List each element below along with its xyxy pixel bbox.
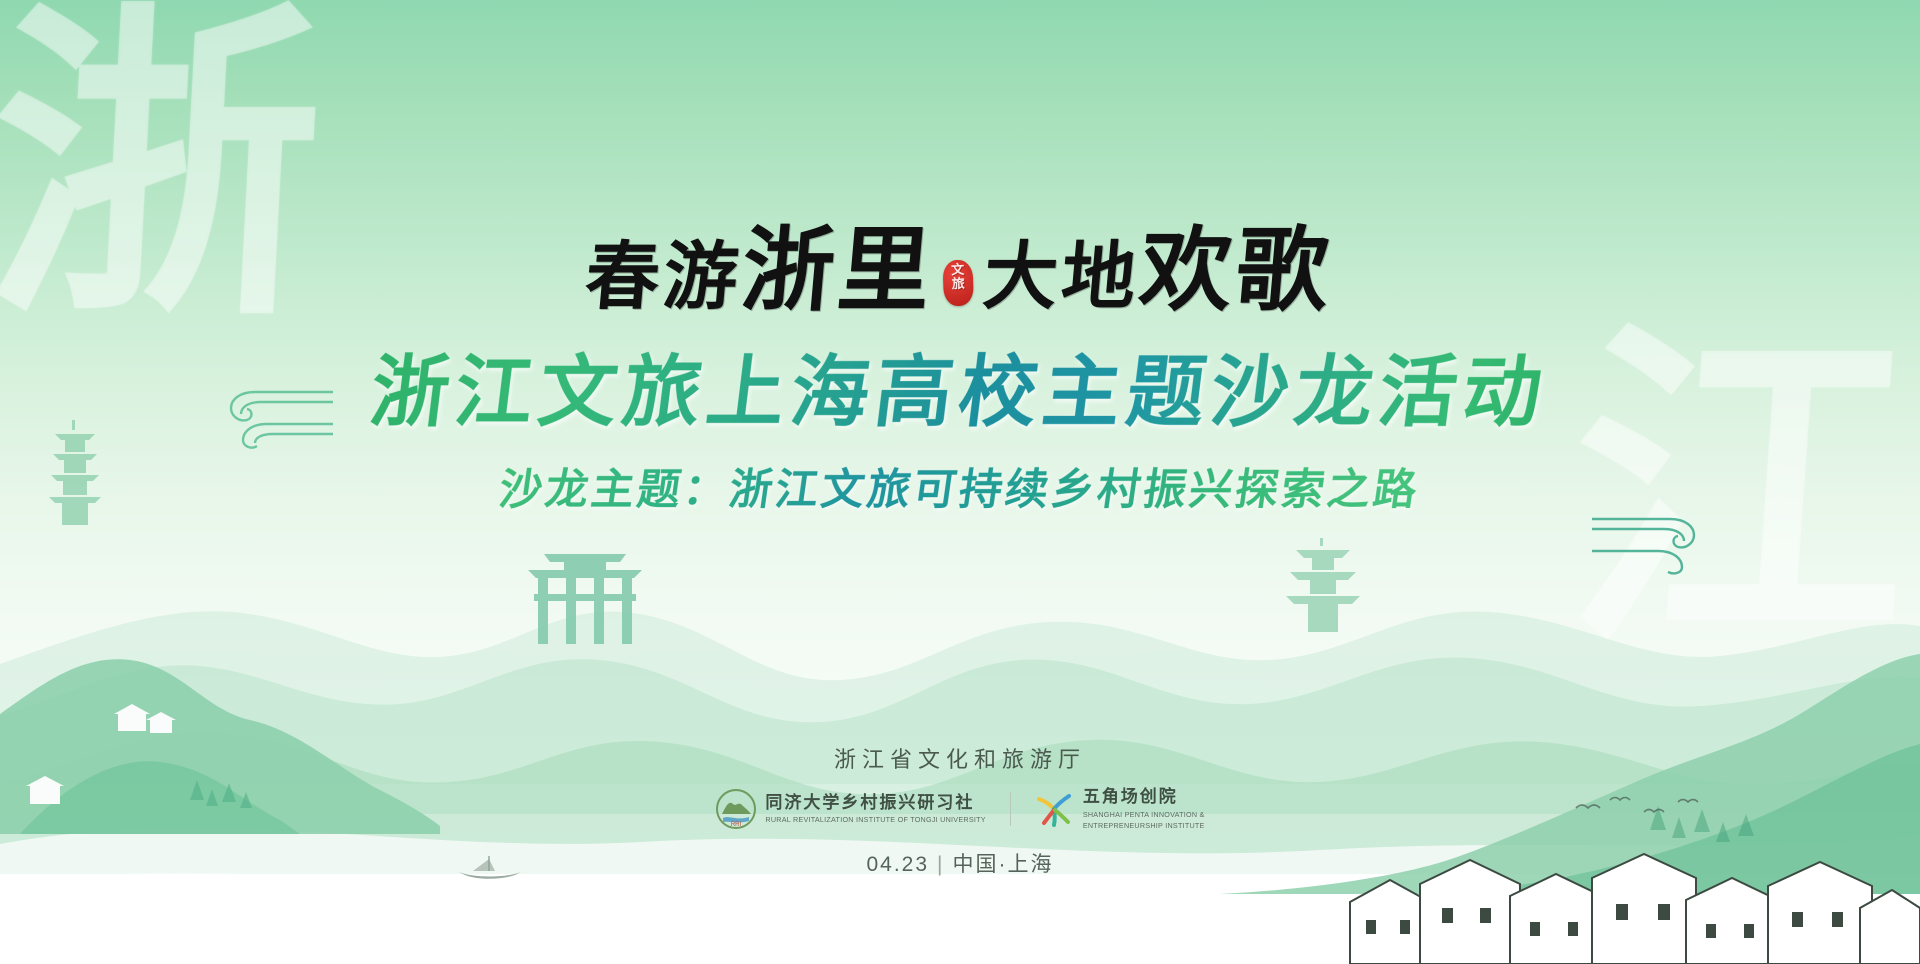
logo-tongji-en: RURAL REVITALIZATION INSTITUTE OF TONGJI… <box>765 815 985 824</box>
logo-tongji[interactable]: RRI 同济大学乡村振兴研习社 RURAL REVITALIZATION INS… <box>715 788 985 830</box>
headline-calligraphy: 春游浙里文旅大地欢歌 <box>581 196 1339 329</box>
logo-penta-en-line2: ENTREPRENEURSHIP INSTITUTE <box>1083 821 1205 830</box>
subtitle-row: 沙龙主题：浙江文旅可持续乡村振兴探索之路 <box>0 455 1920 517</box>
seal-char-2: 旅 <box>943 277 973 292</box>
organizer-name: 浙江省文化和旅游厅 <box>0 742 1920 774</box>
headline-part-3: 大地 <box>980 234 1144 320</box>
logo-penta[interactable]: 五角场创院 SHANGHAI PENTA INNOVATION & ENTREP… <box>1035 788 1205 830</box>
mountain-circle-icon: RRI <box>715 788 757 830</box>
logo-penta-cn: 五角场创院 <box>1083 788 1205 808</box>
event-location: 中国·上海 <box>953 853 1054 876</box>
logo-penta-en-line1: SHANGHAI PENTA INNOVATION & <box>1083 810 1205 819</box>
svg-text:RRI: RRI <box>731 822 742 828</box>
penta-star-icon <box>1035 790 1075 828</box>
logo-row: RRI 同济大学乡村振兴研习社 RURAL REVITALIZATION INS… <box>0 788 1920 830</box>
memorial-arch-icon <box>520 548 650 648</box>
logo-tongji-text: 同济大学乡村振兴研习社 RURAL REVITALIZATION INSTITU… <box>765 794 985 825</box>
headline-row: 春游浙里文旅大地欢歌 <box>0 196 1920 329</box>
seal-stamp: 文旅 <box>942 259 974 306</box>
salon-subtitle: 沙龙主题：浙江文旅可持续乡村振兴探索之路 <box>496 455 1425 517</box>
main-title-row: 浙江文旅上海高校主题沙龙活动 <box>0 330 1920 442</box>
logo-penta-text: 五角场创院 SHANGHAI PENTA INNOVATION & ENTREP… <box>1083 788 1205 830</box>
headline-part-2: 浙里 <box>738 216 939 324</box>
footer-block: 浙江省文化和旅游厅 RRI 同济大学乡村振兴研习社 RURAL REVITALI… <box>0 742 1920 878</box>
headline-part-4: 欢歌 <box>1136 216 1337 324</box>
date-location-row: 04.23|中国·上海 <box>0 848 1920 878</box>
poster-canvas: 浙 江 <box>0 0 1920 964</box>
headline-part-1: 春游 <box>582 234 746 320</box>
logo-tongji-cn: 同济大学乡村振兴研习社 <box>765 794 985 814</box>
page-title: 浙江文旅上海高校主题沙龙活动 <box>365 330 1555 442</box>
date-separator: | <box>937 853 944 876</box>
event-date: 04.23 <box>866 853 929 876</box>
seal-char-1: 文 <box>943 263 973 278</box>
logo-divider <box>1010 792 1011 826</box>
